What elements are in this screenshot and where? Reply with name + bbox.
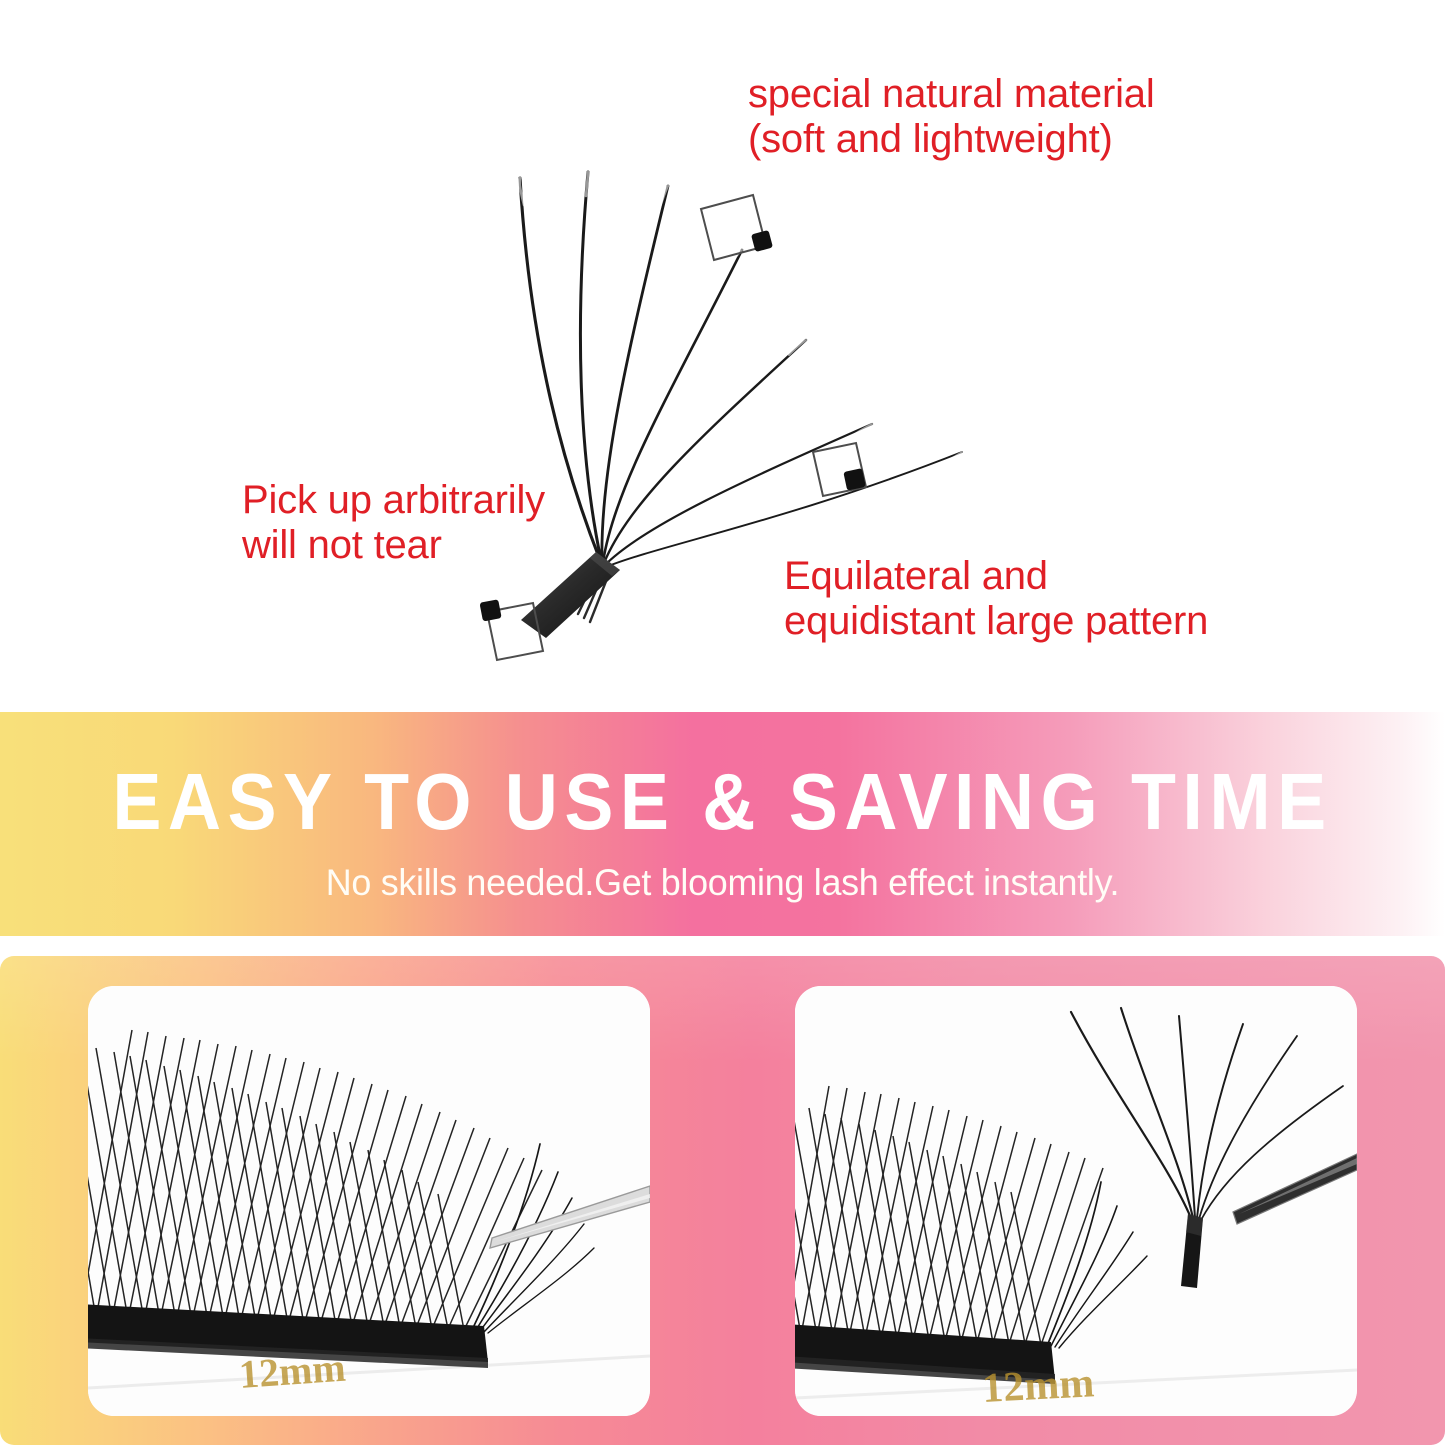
photo-panel-tray-closeup: 12mm	[88, 986, 650, 1416]
callout-nub-middle	[843, 468, 866, 491]
hero-section: special natural material (soft and light…	[0, 0, 1445, 712]
lash-fan-illustration	[0, 0, 1445, 712]
feature-banner: EASY TO USE & SAVING TIME No skills need…	[0, 712, 1445, 936]
lash-tray-photo: 12mm	[88, 986, 650, 1416]
callout-nub-base	[479, 599, 501, 621]
annotation-equilateral-equidistant: Equilateral and equidistant large patter…	[784, 554, 1208, 644]
annotation-pick-up-arbitrarily: Pick up arbitrarily will not tear	[242, 478, 545, 568]
size-print-right: 12mm	[981, 1360, 1095, 1412]
banner-headline: EASY TO USE & SAVING TIME	[58, 762, 1387, 842]
size-print-left: 12mm	[237, 1345, 347, 1397]
photo-gallery-section: 12mm	[0, 956, 1445, 1445]
banner-subtitle: No skills needed.Get blooming lash effec…	[22, 864, 1424, 901]
annotation-special-natural-material: special natural material (soft and light…	[748, 72, 1155, 162]
photo-panel-single-fan-pickup: 12mm	[795, 986, 1357, 1416]
single-fan-pickup-photo: 12mm	[795, 986, 1357, 1416]
